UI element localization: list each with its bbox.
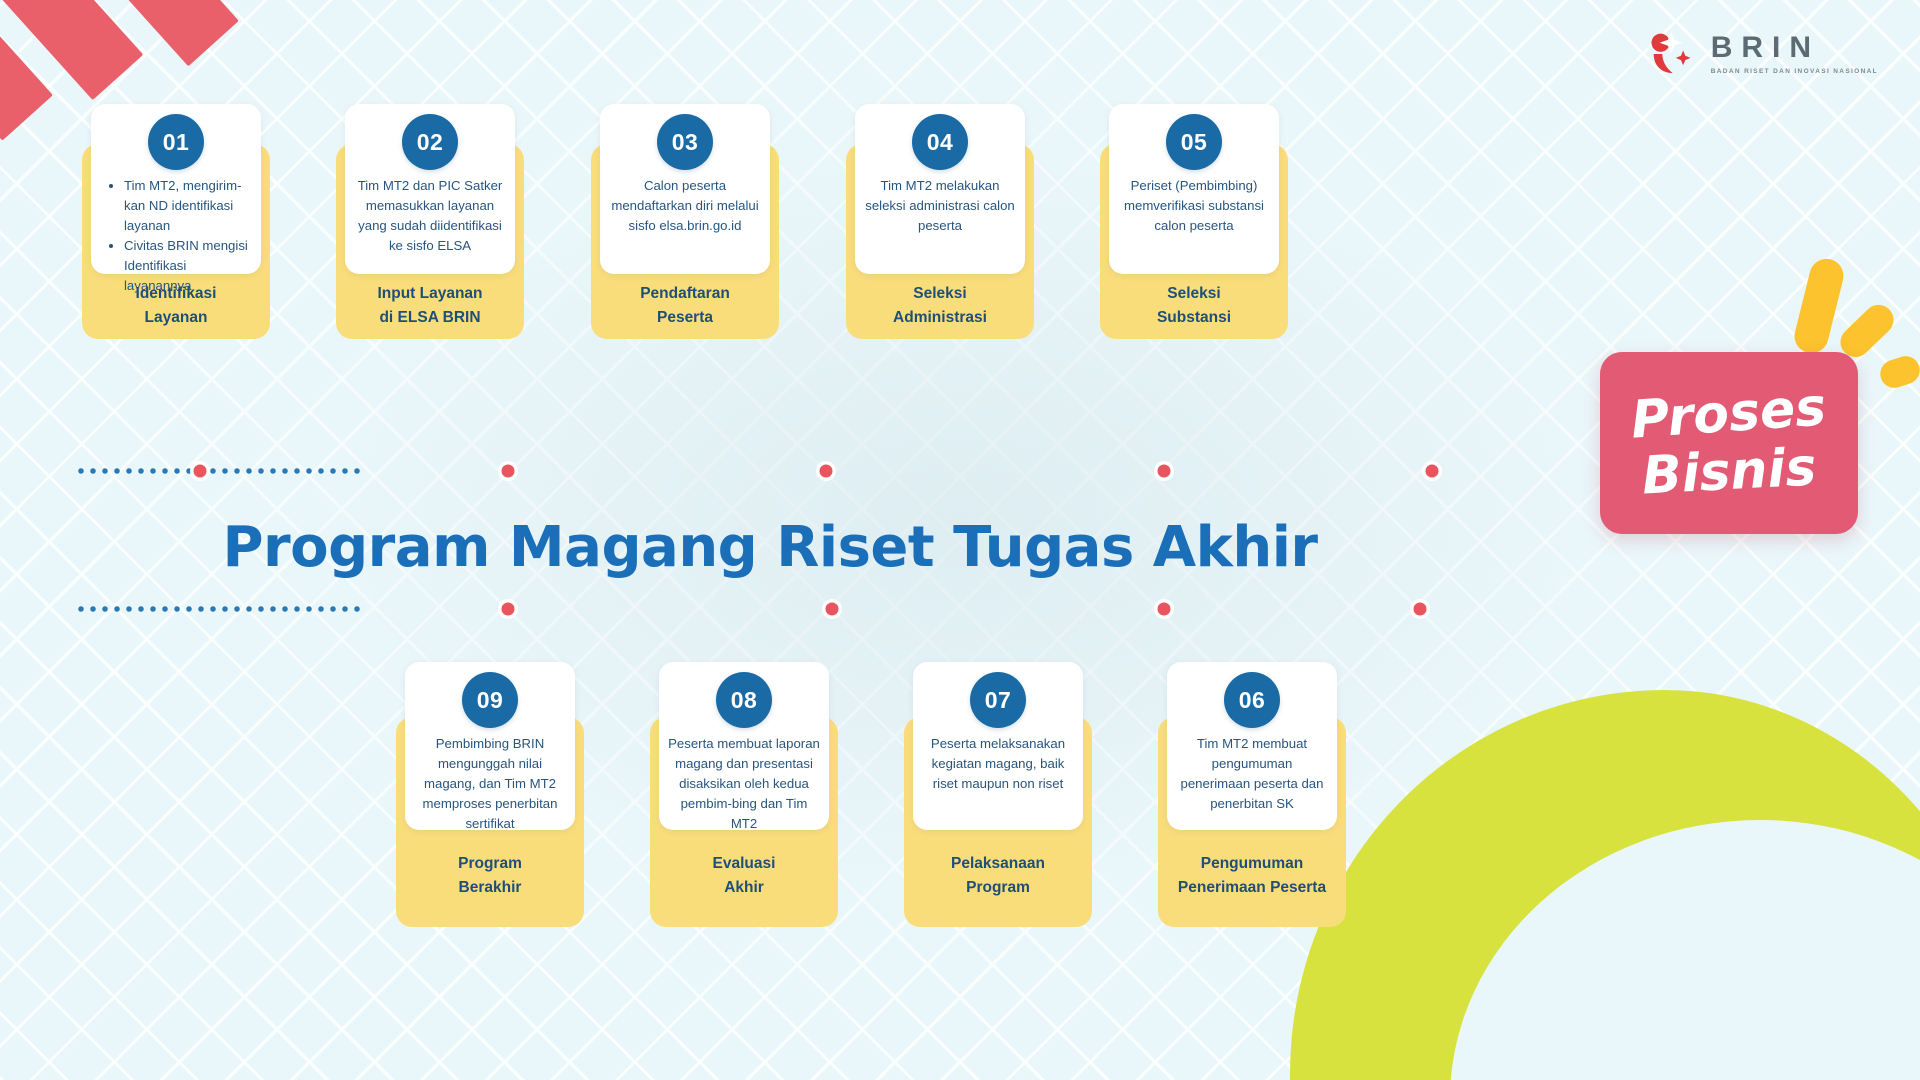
timeline-node-upper-1 — [191, 462, 210, 481]
step-card-label: ProgramBerakhir — [400, 852, 580, 901]
step-number-badge: 03 — [657, 114, 713, 170]
step-number-badge: 07 — [970, 672, 1026, 728]
green-blob-cutout — [1450, 820, 1920, 1080]
step-card-body: Tim MT2, mengirim-kan ND identifikasi la… — [100, 176, 252, 296]
timeline-node-upper-5 — [1423, 462, 1442, 481]
brin-logo: BRIN BADAN RISET DAN INOVASI NASIONAL — [1645, 28, 1878, 80]
timeline-rail-lower — [75, 606, 365, 612]
brin-wordmark: BRIN — [1711, 33, 1820, 63]
yellow-spark-decoration-3 — [1877, 353, 1920, 392]
page-title: Program Magang Riset Tugas Akhir — [120, 515, 1420, 580]
step-number-badge: 09 — [462, 672, 518, 728]
step-card-body: Pembimbing BRIN mengunggah nilai magang,… — [414, 734, 566, 834]
proses-bisnis-badge: Proses Bisnis — [1600, 352, 1858, 534]
brin-mark-icon — [1645, 28, 1697, 80]
step-card-body: Tim MT2 membuat pengumuman penerimaan pe… — [1176, 734, 1328, 814]
timeline-node-lower-3 — [1155, 600, 1174, 619]
brin-tagline: BADAN RISET DAN INOVASI NASIONAL — [1711, 68, 1878, 75]
step-card-label: EvaluasiAkhir — [654, 852, 834, 901]
step-card-label: PelaksanaanProgram — [908, 852, 1088, 901]
step-card-bullet: Tim MT2, mengirim-kan ND identifikasi la… — [124, 176, 252, 236]
step-number-badge: 06 — [1224, 672, 1280, 728]
badge-line-1: Proses — [1630, 381, 1828, 446]
step-card-body: Peserta melaksanakan kegiatan magang, ba… — [922, 734, 1074, 794]
step-number-badge: 02 — [402, 114, 458, 170]
timeline-node-upper-2 — [499, 462, 518, 481]
step-card-body: Calon peserta mendaftarkan diri melalui … — [609, 176, 761, 236]
step-number-badge: 01 — [148, 114, 204, 170]
step-card-body: Tim MT2 melakukan seleksi administrasi c… — [864, 176, 1016, 236]
step-number-badge: 04 — [912, 114, 968, 170]
timeline-node-upper-4 — [1155, 462, 1174, 481]
badge-line-2: Bisnis — [1641, 441, 1818, 502]
step-card-body: Peserta membuat laporan magang dan prese… — [668, 734, 820, 834]
step-card-label: PengumumanPenerimaan Peserta — [1162, 852, 1342, 901]
timeline-node-lower-2 — [823, 600, 842, 619]
step-card-label: SeleksiSubstansi — [1104, 282, 1284, 331]
step-number-badge: 08 — [716, 672, 772, 728]
step-card-label: SeleksiAdministrasi — [850, 282, 1030, 331]
yellow-spark-decoration-1 — [1791, 255, 1847, 356]
step-number-badge: 05 — [1166, 114, 1222, 170]
timeline-node-upper-3 — [817, 462, 836, 481]
step-card-body: Periset (Pembimbing) memverifikasi subst… — [1118, 176, 1270, 236]
infographic-canvas: BRIN BADAN RISET DAN INOVASI NASIONAL Id… — [0, 0, 1920, 1080]
step-card-bullet: Civitas BRIN mengisi Identifikasi layana… — [124, 236, 252, 296]
timeline-node-lower-1 — [499, 600, 518, 619]
step-card-body: Tim MT2 dan PIC Satker memasukkan layana… — [354, 176, 506, 256]
green-blob-decoration — [1290, 690, 1920, 1080]
timeline-rail-upper — [75, 468, 365, 474]
step-card-label: Input Layanandi ELSA BRIN — [340, 282, 520, 331]
timeline-node-lower-4 — [1411, 600, 1430, 619]
step-card-label: PendaftaranPeserta — [595, 282, 775, 331]
